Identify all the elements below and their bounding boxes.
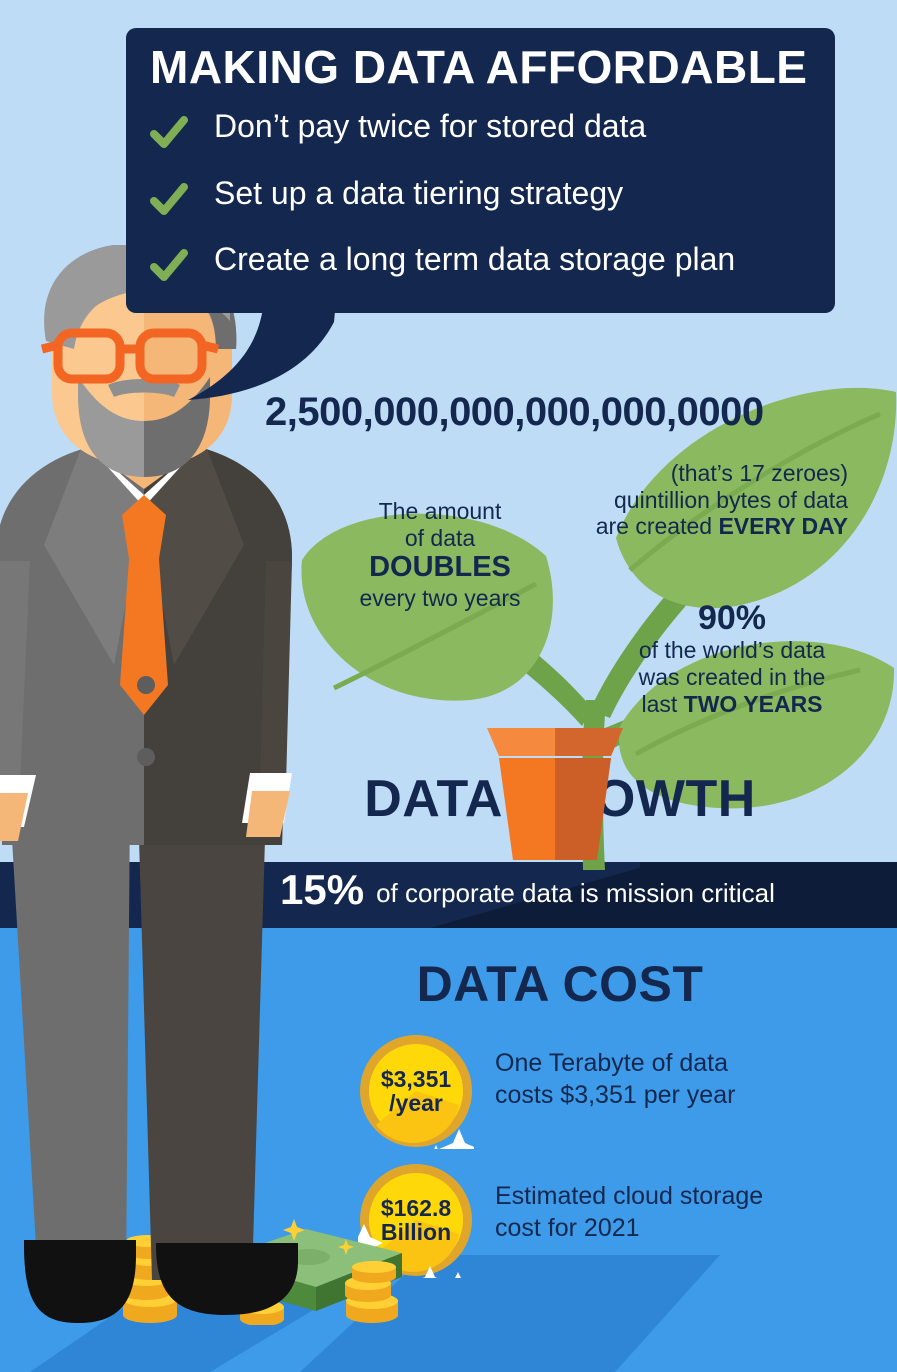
- doubles-line1: The amount: [330, 498, 550, 525]
- cost1-line2: costs $3,351 per year: [495, 1079, 855, 1111]
- cost-badge-terabyte: $3,351 /year: [358, 1033, 474, 1149]
- page-title: MAKING DATA AFFORDABLE: [150, 40, 830, 94]
- every-day-line3: are created EVERY DAY: [548, 513, 848, 540]
- doubles-emphasis: DOUBLES: [330, 551, 550, 585]
- bullet-item-2-label: Set up a data tiering strategy: [214, 175, 623, 212]
- suit-button: [137, 676, 155, 694]
- mission-critical-line: 15%of corporate data is mission critical: [280, 866, 880, 914]
- bullet-item-1: Don’t pay twice for stored data: [150, 110, 850, 156]
- right-leg: [138, 805, 266, 1280]
- cost1-line1: One Terabyte of data: [495, 1047, 855, 1079]
- data-cost-title: DATA COST: [250, 955, 870, 1013]
- infographic-canvas: 2,500,000,000,000,000,0000 (that’s 17 ze…: [0, 0, 897, 1372]
- check-icon: [150, 247, 188, 285]
- left-shoe: [24, 1240, 136, 1323]
- doubles-line3: every two years: [330, 585, 550, 612]
- cost-description-terabyte: One Terabyte of data costs $3,351 per ye…: [495, 1047, 855, 1111]
- bullet-item-3: Create a long term data storage plan: [150, 243, 850, 289]
- every-day-emphasis: EVERY DAY: [718, 513, 848, 539]
- ninety-line3: last TWO YEARS: [612, 691, 852, 718]
- mission-critical-text: of corporate data is mission critical: [376, 878, 775, 908]
- ninety-line2: was created in the: [612, 664, 852, 691]
- every-day-line1: (that’s 17 zeroes): [548, 460, 848, 487]
- suit-button: [137, 748, 155, 766]
- ninety-percent-value: 90%: [612, 600, 852, 637]
- big-number: 2,500,000,000,000,000,0000: [265, 390, 885, 435]
- flower-pot-icon: [485, 728, 625, 860]
- leaf-text-every-day: (that’s 17 zeroes) quintillion bytes of …: [548, 460, 848, 540]
- doubles-line2: of data: [330, 525, 550, 552]
- businessman-illustration: [0, 245, 310, 1350]
- leaf-text-doubles: The amount of data DOUBLES every two yea…: [330, 498, 550, 612]
- bullet-item-2: Set up a data tiering strategy: [150, 177, 850, 223]
- right-shoe: [156, 1243, 298, 1315]
- check-icon: [150, 181, 188, 219]
- right-hand: [246, 791, 290, 837]
- every-day-line3-prefix: are created: [596, 513, 719, 539]
- ninety-line1: of the world’s data: [612, 637, 852, 664]
- cost-badge-terabyte-label: $3,351 /year: [358, 1033, 474, 1149]
- ninety-line3-prefix: last: [641, 691, 683, 717]
- left-leg: [10, 805, 130, 1280]
- badge1-line1: $3,351: [381, 1067, 451, 1091]
- cost2-line1: Estimated cloud storage: [495, 1180, 855, 1212]
- bullet-item-3-label: Create a long term data storage plan: [214, 241, 735, 278]
- cost-description-cloud: Estimated cloud storage cost for 2021: [495, 1180, 855, 1244]
- every-day-line2: quintillion bytes of data: [548, 487, 848, 514]
- ninety-emphasis: TWO YEARS: [684, 691, 823, 717]
- badge1-line2: /year: [389, 1091, 443, 1115]
- bullet-item-1-label: Don’t pay twice for stored data: [214, 108, 646, 145]
- leaf-text-ninety-percent: 90% of the world’s data was created in t…: [612, 600, 852, 717]
- speech-bubble-tail: [186, 300, 336, 400]
- check-icon: [150, 114, 188, 152]
- cost2-line2: cost for 2021: [495, 1212, 855, 1244]
